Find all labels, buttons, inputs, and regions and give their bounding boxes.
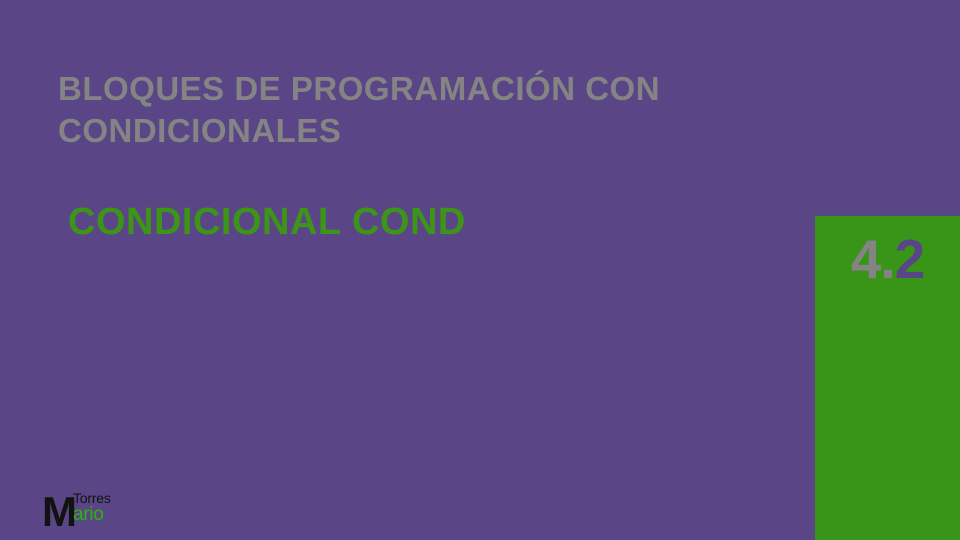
logo-wordmark: Torres ario (73, 491, 111, 524)
title-block: BLOQUES DE PROGRAMACIÓN CON CONDICIONALE… (58, 68, 818, 152)
logo-monogram-m: M (42, 492, 75, 532)
logo-given-name: ario (73, 505, 111, 524)
presentation-slide: BLOQUES DE PROGRAMACIÓN CON CONDICIONALE… (0, 0, 960, 540)
brand-logo: M Torres ario (42, 489, 111, 533)
section-side-panel: 4.2 (815, 216, 960, 540)
section-number-major: 4. (851, 228, 895, 290)
section-number-minor: 2 (895, 228, 925, 290)
section-number-badge: 4.2 (815, 232, 960, 287)
subtitle-block: CONDICIONAL COND (68, 200, 808, 246)
page-title: BLOQUES DE PROGRAMACIÓN CON CONDICIONALE… (58, 68, 818, 152)
slide-subtitle: CONDICIONAL COND (68, 200, 808, 246)
